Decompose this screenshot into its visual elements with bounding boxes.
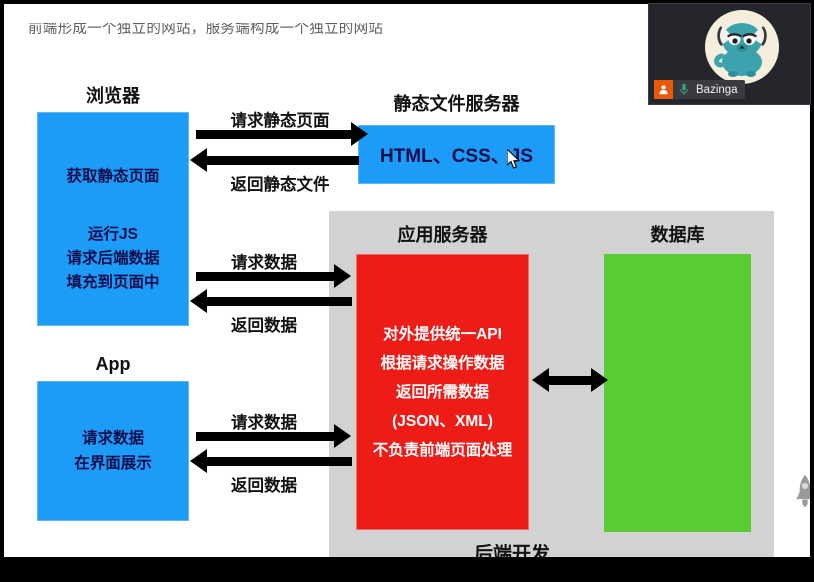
browser-line-3: 填充到页面中 — [66, 271, 159, 295]
app-title: App — [37, 354, 189, 375]
app-server-line-1: 根据请求操作数据 — [380, 349, 504, 378]
browser-box[interactable]: 获取静态页面 运行JS 请求后端数据 填充到页面中 — [37, 112, 189, 326]
mouse-cursor-icon — [507, 149, 521, 169]
participant-name-badge: Bazinga — [654, 80, 745, 99]
participant-name: Bazinga — [696, 84, 738, 96]
arrow-head-request-static-page — [351, 122, 368, 146]
static-server-title: 静态文件服务器 — [358, 90, 555, 116]
app-box[interactable]: 请求数据 在界面展示 — [37, 381, 189, 521]
arrow-shaft-return-static-files — [207, 156, 359, 165]
backend-caption-text: 后端开发 — [474, 544, 550, 557]
person-icon — [654, 80, 673, 99]
arrow-head-appserver-database-left — [532, 368, 549, 392]
rocket-icon[interactable] — [795, 474, 810, 510]
browser-line-2: 请求后端数据 — [66, 247, 159, 271]
arrow-shaft-request-data-app — [196, 432, 334, 441]
arrow-shaft-request-static-page — [196, 130, 351, 139]
microphone-icon[interactable] — [676, 80, 692, 99]
database-box[interactable] — [604, 254, 751, 532]
browser-title: 浏览器 — [37, 82, 189, 108]
arrow-label-request-data-browser: 请求数据 — [204, 249, 324, 273]
app-server-title: 应用服务器 — [356, 221, 529, 247]
browser-line-1: 运行JS — [88, 223, 138, 247]
backend-caption: 后端开发 — [474, 544, 674, 557]
arrow-head-request-data-app — [334, 424, 351, 448]
arrow-label-return-data-app: 返回数据 — [204, 472, 324, 496]
app-server-line-0: 对外提供统一API — [383, 320, 502, 349]
arrow-shaft-request-data-browser — [196, 272, 334, 281]
arrow-head-return-data-browser — [190, 289, 207, 313]
arrow-head-return-data-app — [190, 449, 207, 473]
arrow-label-request-static-page: 请求静态页面 — [200, 107, 360, 131]
browser-box-group-bottom: 运行JS 请求后端数据 填充到页面中 — [38, 223, 188, 295]
arrow-shaft-return-data-app — [207, 457, 352, 466]
avatar — [705, 10, 779, 84]
arrow-head-return-static-files — [190, 148, 207, 172]
arrow-head-appserver-database-right — [591, 368, 608, 392]
app-server-line-2: 返回所需数据 — [396, 378, 489, 407]
arrow-shaft-appserver-database — [549, 376, 591, 385]
static-file-server-box[interactable]: HTML、CSS、JS — [358, 125, 555, 184]
browser-box-group-top: 获取静态页面 — [38, 165, 188, 189]
app-line-1: 在界面展示 — [74, 451, 152, 476]
arrow-head-request-data-browser — [334, 264, 351, 288]
application-server-box[interactable]: 对外提供统一API 根据请求操作数据 返回所需数据 (JSON、XML) 不负责… — [356, 254, 529, 530]
slide-headline-text: 前端形成一个独立的网站，服务端构成一个独立的网站 — [28, 23, 383, 39]
arrow-label-return-static-files: 返回静态文件 — [200, 171, 360, 195]
database-title: 数据库 — [604, 221, 751, 247]
app-server-line-4: 不负责前端页面处理 — [373, 436, 513, 465]
arrow-label-request-data-app: 请求数据 — [204, 409, 324, 433]
app-server-line-3: (JSON、XML) — [392, 407, 493, 436]
arrow-shaft-return-data-browser — [207, 297, 352, 306]
browser-line-0: 获取静态页面 — [66, 165, 159, 189]
video-participant-tile[interactable]: Bazinga — [648, 3, 811, 105]
dog-avatar-icon — [705, 10, 779, 84]
screen: 前端形成一个独立的网站，服务端构成一个独立的网站 浏览器 App 静态文件服务器… — [0, 0, 814, 582]
slide-headline: 前端形成一个独立的网站，服务端构成一个独立的网站 — [28, 23, 588, 39]
app-line-0: 请求数据 — [82, 426, 144, 451]
arrow-label-return-data-browser: 返回数据 — [204, 312, 324, 336]
